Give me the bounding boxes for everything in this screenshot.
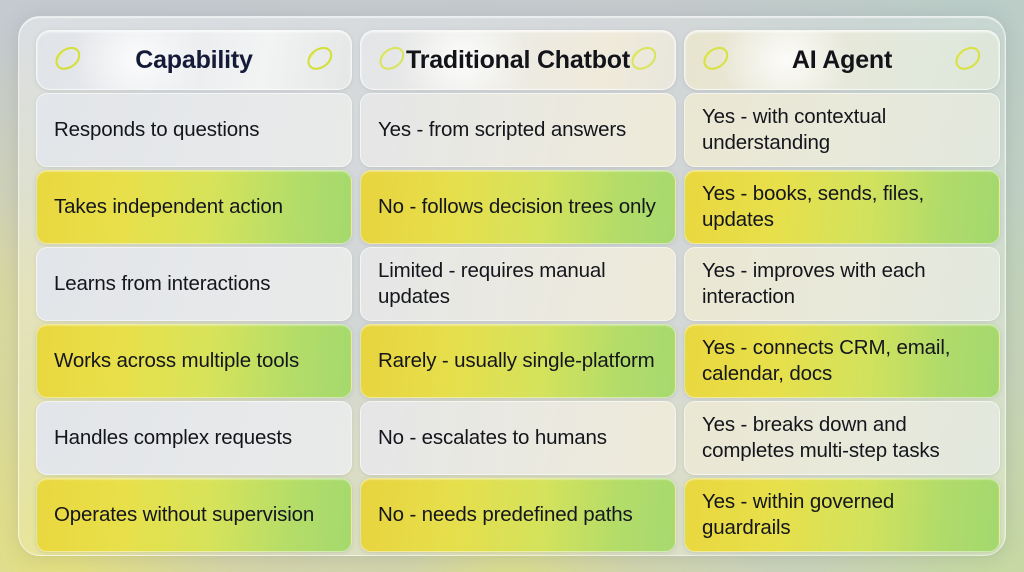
cell-text: Operates without supervision: [54, 502, 314, 528]
table-cell: Operates without supervision: [36, 478, 352, 552]
table-cell: Rarely - usually single-platform: [360, 324, 676, 398]
cell-text: Rarely - usually single-platform: [378, 348, 655, 374]
table-cell: No - escalates to humans: [360, 401, 676, 475]
cell-text: Yes - books, sends, files, updates: [702, 181, 982, 232]
header-label: Traditional Chatbot: [406, 46, 630, 75]
lemon-icon: [627, 43, 661, 77]
table-cell: Takes independent action: [36, 170, 352, 244]
table-header-ai-agent: AI Agent: [684, 30, 1000, 90]
lemon-icon: [699, 43, 733, 77]
cell-text: Learns from interactions: [54, 271, 270, 297]
cell-text: Works across multiple tools: [54, 348, 299, 374]
table-cell: Yes - connects CRM, email, calendar, doc…: [684, 324, 1000, 398]
cell-text: Yes - from scripted answers: [378, 117, 626, 143]
cell-text: Responds to questions: [54, 117, 259, 143]
table-cell: No - needs predefined paths: [360, 478, 676, 552]
lemon-icon: [303, 43, 337, 77]
cell-text: No - escalates to humans: [378, 425, 607, 451]
lemon-icon: [51, 43, 85, 77]
table-header-traditional-chatbot: Traditional Chatbot: [360, 30, 676, 90]
cell-text: No - needs predefined paths: [378, 502, 633, 528]
table-cell: Yes - improves with each interaction: [684, 247, 1000, 321]
cell-text: Yes - with contextual understanding: [702, 104, 982, 155]
cell-text: Yes - connects CRM, email, calendar, doc…: [702, 335, 982, 386]
table-cell: Responds to questions: [36, 93, 352, 167]
table-cell: Yes - books, sends, files, updates: [684, 170, 1000, 244]
table-cell: Handles complex requests: [36, 401, 352, 475]
header-label: Capability: [135, 46, 252, 75]
table-cell: Works across multiple tools: [36, 324, 352, 398]
cell-text: Takes independent action: [54, 194, 283, 220]
cell-text: Handles complex requests: [54, 425, 292, 451]
table-cell: Learns from interactions: [36, 247, 352, 321]
cell-text: Yes - improves with each interaction: [702, 258, 982, 309]
table-cell: Yes - from scripted answers: [360, 93, 676, 167]
cell-text: Yes - within governed guardrails: [702, 489, 982, 540]
table-cell: Yes - breaks down and completes multi-st…: [684, 401, 1000, 475]
lemon-icon: [951, 43, 985, 77]
table-cell: No - follows decision trees only: [360, 170, 676, 244]
cell-text: Yes - breaks down and completes multi-st…: [702, 412, 982, 463]
cell-text: No - follows decision trees only: [378, 194, 656, 220]
lemon-icon: [375, 43, 409, 77]
table-header-capability: Capability: [36, 30, 352, 90]
cell-text: Limited - requires manual updates: [378, 258, 658, 309]
comparison-table: Capability Traditional Chatbot AI Agent …: [36, 30, 988, 546]
table-cell: Yes - within governed guardrails: [684, 478, 1000, 552]
table-cell: Yes - with contextual understanding: [684, 93, 1000, 167]
table-cell: Limited - requires manual updates: [360, 247, 676, 321]
header-label: AI Agent: [792, 46, 892, 75]
